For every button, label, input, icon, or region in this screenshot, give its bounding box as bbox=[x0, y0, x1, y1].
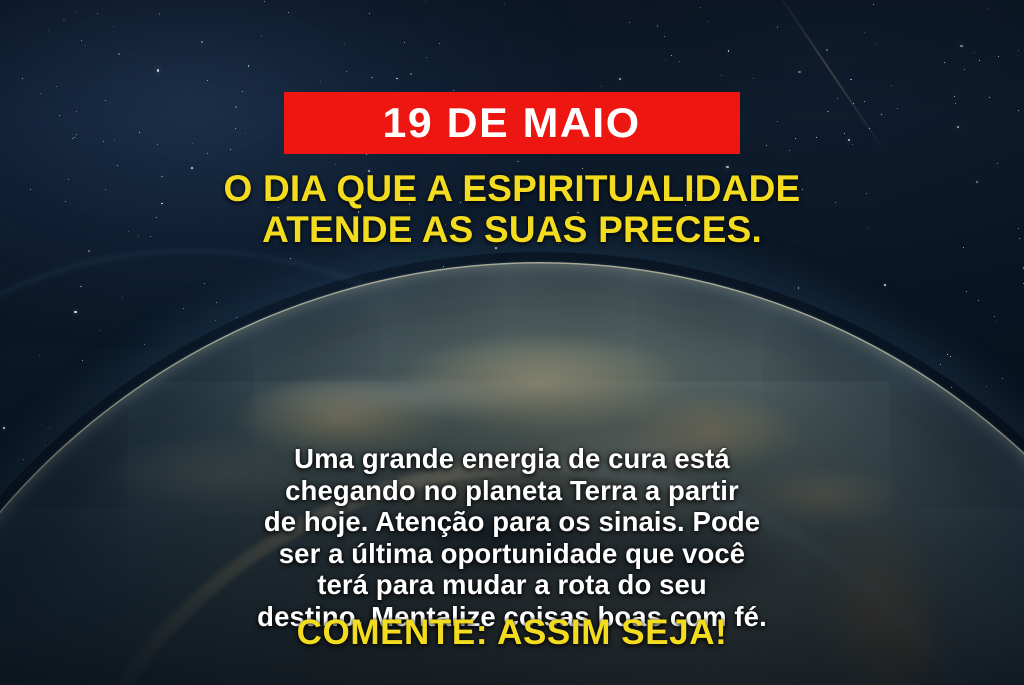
body-line-2: chegando no planeta Terra a partir bbox=[28, 475, 996, 507]
date-banner: 19 DE MAIO bbox=[284, 92, 740, 154]
body-line-5: terá para mudar a rota do seu bbox=[28, 569, 996, 601]
headline: O DIA QUE A ESPIRITUALIDADE ATENDE AS SU… bbox=[0, 168, 1024, 251]
call-to-action: COMENTE: ASSIM SEJA! bbox=[0, 614, 1024, 653]
headline-line-2: ATENDE AS SUAS PRECES. bbox=[48, 209, 976, 250]
body-line-4: ser a última oportunidade que você bbox=[28, 538, 996, 570]
social-post-image: 19 DE MAIO O DIA QUE A ESPIRITUALIDADE A… bbox=[0, 0, 1024, 685]
body-copy: Uma grande energia de cura está chegando… bbox=[0, 443, 1024, 632]
headline-line-1: O DIA QUE A ESPIRITUALIDADE bbox=[48, 168, 976, 209]
body-line-3: de hoje. Atenção para os sinais. Pode bbox=[28, 506, 996, 538]
body-line-1: Uma grande energia de cura está bbox=[28, 443, 996, 475]
poster-content: 19 DE MAIO O DIA QUE A ESPIRITUALIDADE A… bbox=[0, 0, 1024, 685]
date-banner-label: 19 DE MAIO bbox=[383, 102, 641, 144]
